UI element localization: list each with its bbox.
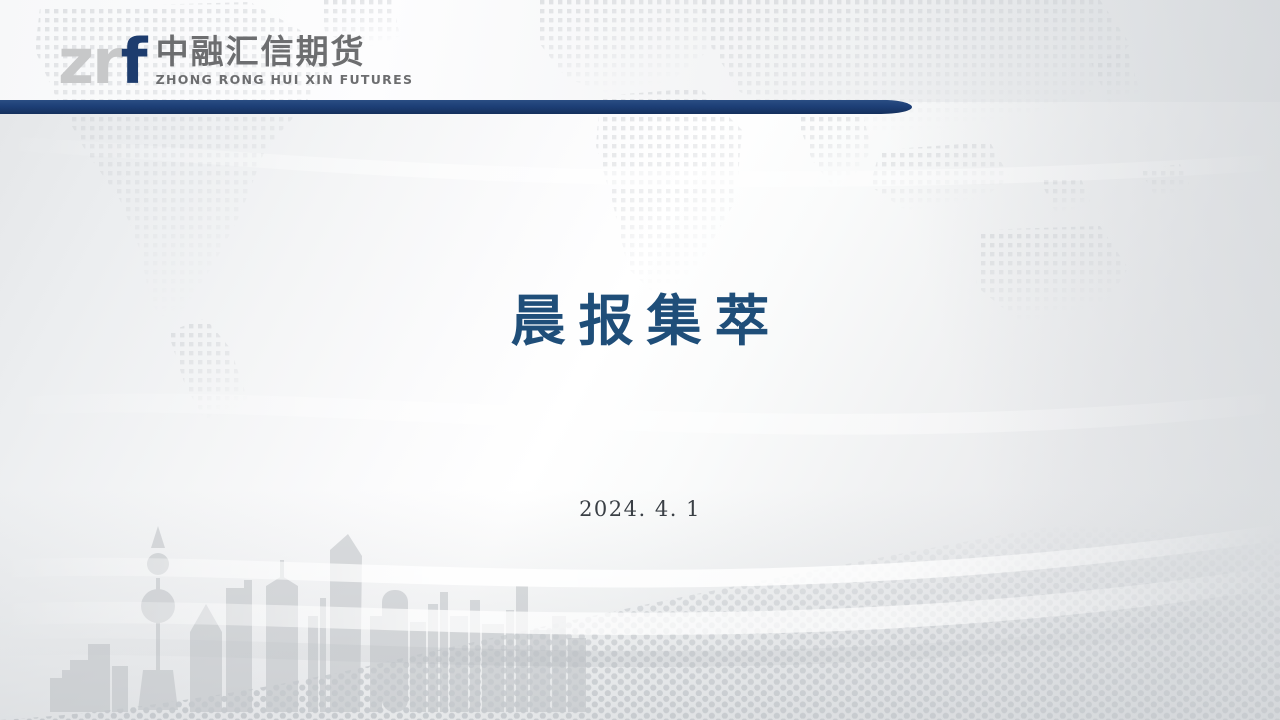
brand-monogram-icon: zrf <box>58 34 146 90</box>
brand-logo: zrf 中融汇信期货 ZHONG RONG HUI XIN FUTURES <box>58 34 413 90</box>
brand-wordmark: 中融汇信期货 ZHONG RONG HUI XIN FUTURES <box>156 34 414 90</box>
brand-name-en: ZHONG RONG HUI XIN FUTURES <box>156 72 414 87</box>
page-title: 晨报集萃 <box>0 276 1280 356</box>
header-rule-bar <box>0 100 912 114</box>
brand-monogram-f: f <box>121 25 146 98</box>
brand-monogram-zr: zr <box>58 25 121 98</box>
slide-date: 2024. 4. 1 <box>0 497 1280 521</box>
presentation-slide: zrf 中融汇信期货 ZHONG RONG HUI XIN FUTURES 晨报… <box>0 0 1280 720</box>
brand-name-cn: 中融汇信期货 <box>156 34 414 70</box>
